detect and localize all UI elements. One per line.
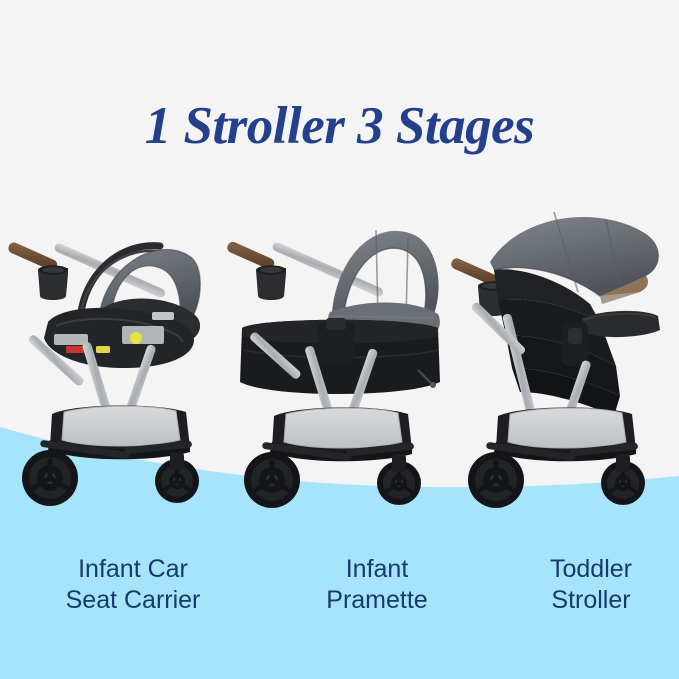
page-title: 1 Stroller 3 Stages: [0, 96, 679, 156]
stage-1-illustration: [4, 200, 230, 520]
stage-2-caption-line-2: Pramette: [264, 585, 490, 616]
stage-2-illustration: [226, 200, 452, 520]
stage-3-caption-line-1: Toddler: [478, 554, 679, 585]
stage-3-caption-line-2: Stroller: [478, 585, 679, 616]
stage-1-caption: Infant Car Seat Carrier: [20, 554, 246, 616]
stroller-with-infant-car-seat-icon: [4, 200, 230, 520]
stroller-with-bassinet-pramette-icon: [226, 200, 452, 520]
stage-2-caption-line-1: Infant: [264, 554, 490, 585]
stage-2-caption: Infant Pramette: [264, 554, 490, 616]
stage-1-caption-line-2: Seat Carrier: [20, 585, 246, 616]
stage-1-caption-line-1: Infant Car: [20, 554, 246, 585]
stroller-toddler-seat-icon: [450, 200, 676, 520]
stage-3-illustration: [450, 200, 676, 520]
stage-3-caption: Toddler Stroller: [478, 554, 679, 616]
infographic-canvas: 1 Stroller 3 Stages Infant Car Seat Carr…: [0, 0, 679, 679]
